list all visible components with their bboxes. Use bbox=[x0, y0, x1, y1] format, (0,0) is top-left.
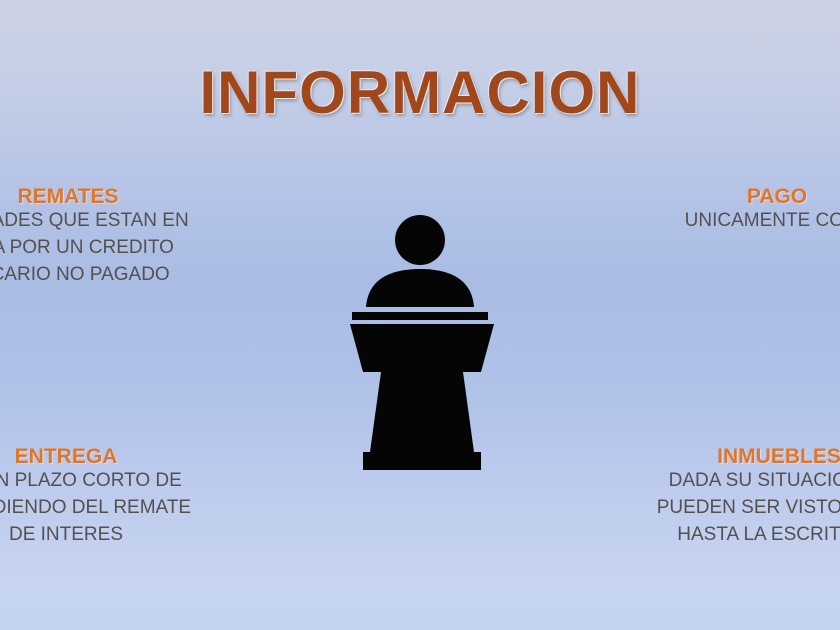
text-block-entrega: ENTREGA DE UN PLAZO CORTO DE EPENDIENDO … bbox=[0, 446, 236, 549]
text-block-inmuebles: INMUEBLES DADA SU SITUACION LE PUEDEN SE… bbox=[604, 446, 840, 549]
page-title: INFORMACION bbox=[0, 58, 840, 127]
block-heading-entrega: ENTREGA bbox=[0, 446, 236, 468]
block-heading-remates: REMATES bbox=[0, 186, 238, 208]
slide-canvas: INFORMACION REMATES PIEDADES QUE ESTAN E… bbox=[0, 0, 840, 630]
block-line: DE UN PLAZO CORTO DE bbox=[0, 468, 236, 495]
block-heading-inmuebles: INMUEBLES bbox=[604, 446, 840, 468]
text-block-pago: PAGO UNICAMENTE CONT bbox=[607, 186, 840, 235]
block-line: TECARIO NO PAGADO bbox=[0, 262, 238, 289]
podium-speaker-icon bbox=[349, 212, 495, 474]
block-line: NTIA POR UN CREDITO bbox=[0, 235, 238, 262]
block-line: DE INTERES bbox=[0, 522, 236, 549]
block-line: DADA SU SITUACION LE bbox=[604, 468, 840, 495]
block-line: PIEDADES QUE ESTAN EN bbox=[0, 208, 238, 235]
block-line: UNICAMENTE CONT bbox=[607, 208, 840, 235]
block-heading-pago: PAGO bbox=[607, 186, 840, 208]
block-line: EPENDIENDO DEL REMATE bbox=[0, 495, 236, 522]
block-line: HASTA LA ESCRITURA bbox=[604, 522, 840, 549]
block-line: PUEDEN SER VISTOS POR bbox=[604, 495, 840, 522]
text-block-remates: REMATES PIEDADES QUE ESTAN EN NTIA POR U… bbox=[0, 186, 238, 289]
